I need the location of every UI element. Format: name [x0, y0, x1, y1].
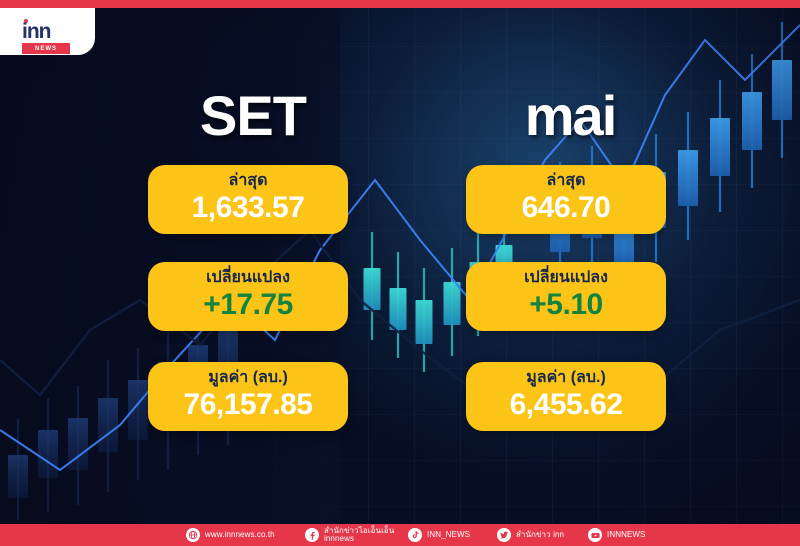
footer-youtube-text: INNNEWS	[607, 531, 645, 539]
set-label-change: เปลี่ยนแปลง	[148, 269, 348, 287]
set-card-change: เปลี่ยนแปลง +17.75	[148, 262, 348, 331]
footer-website-text: www.innnews.co.th	[205, 531, 275, 539]
twitter-icon	[497, 528, 511, 542]
mai-label-change: เปลี่ยนแปลง	[466, 269, 666, 287]
footer-tiktok[interactable]: INN_NEWS	[408, 528, 470, 542]
logo-news-badge: NEWS	[22, 43, 70, 54]
footer-facebook-text: สำนักข่าวไอเอ็นเอ็น innnews	[324, 527, 394, 544]
index-title-mai: mai	[440, 88, 700, 144]
infographic-canvas: inn NEWS SET ล่าสุด 1,633.57 เปลี่ยนแปลง…	[0, 0, 800, 546]
mai-card-change: เปลี่ยนแปลง +5.10	[466, 262, 666, 331]
index-title-set: SET	[123, 88, 383, 144]
footer-bar: www.innnews.co.th สำนักข่าวไอเอ็นเอ็น in…	[0, 524, 800, 546]
youtube-icon	[588, 528, 602, 542]
mai-value-value: 6,455.62	[466, 388, 666, 422]
mai-label-value: มูลค่า (ลบ.)	[466, 369, 666, 387]
mai-label-last: ล่าสุด	[466, 172, 666, 190]
footer-tiktok-text: INN_NEWS	[427, 531, 470, 539]
set-card-last: ล่าสุด 1,633.57	[148, 165, 348, 234]
footer-twitter[interactable]: สำนักข่าว inn	[497, 528, 564, 542]
set-label-value: มูลค่า (ลบ.)	[148, 369, 348, 387]
mai-value-change: +5.10	[466, 288, 666, 322]
footer-facebook-line2: innnews	[324, 535, 394, 543]
footer-youtube[interactable]: INNNEWS	[588, 528, 645, 542]
set-value-value: 76,157.85	[148, 388, 348, 422]
logo-wordmark: inn	[22, 21, 51, 42]
mai-card-last: ล่าสุด 646.70	[466, 165, 666, 234]
footer-website[interactable]: www.innnews.co.th	[186, 528, 275, 542]
set-value-last: 1,633.57	[148, 191, 348, 225]
top-accent-bar	[0, 0, 800, 8]
set-label-last: ล่าสุด	[148, 172, 348, 190]
mai-value-last: 646.70	[466, 191, 666, 225]
footer-twitter-text: สำนักข่าว inn	[516, 531, 564, 539]
footer-facebook[interactable]: สำนักข่าวไอเอ็นเอ็น innnews	[305, 527, 394, 544]
background-vignette	[0, 0, 800, 546]
facebook-icon	[305, 528, 319, 542]
logo-plate: inn NEWS	[0, 8, 95, 55]
mai-card-value: มูลค่า (ลบ.) 6,455.62	[466, 362, 666, 431]
globe-icon	[186, 528, 200, 542]
tiktok-icon	[408, 528, 422, 542]
set-value-change: +17.75	[148, 288, 348, 322]
set-card-value: มูลค่า (ลบ.) 76,157.85	[148, 362, 348, 431]
